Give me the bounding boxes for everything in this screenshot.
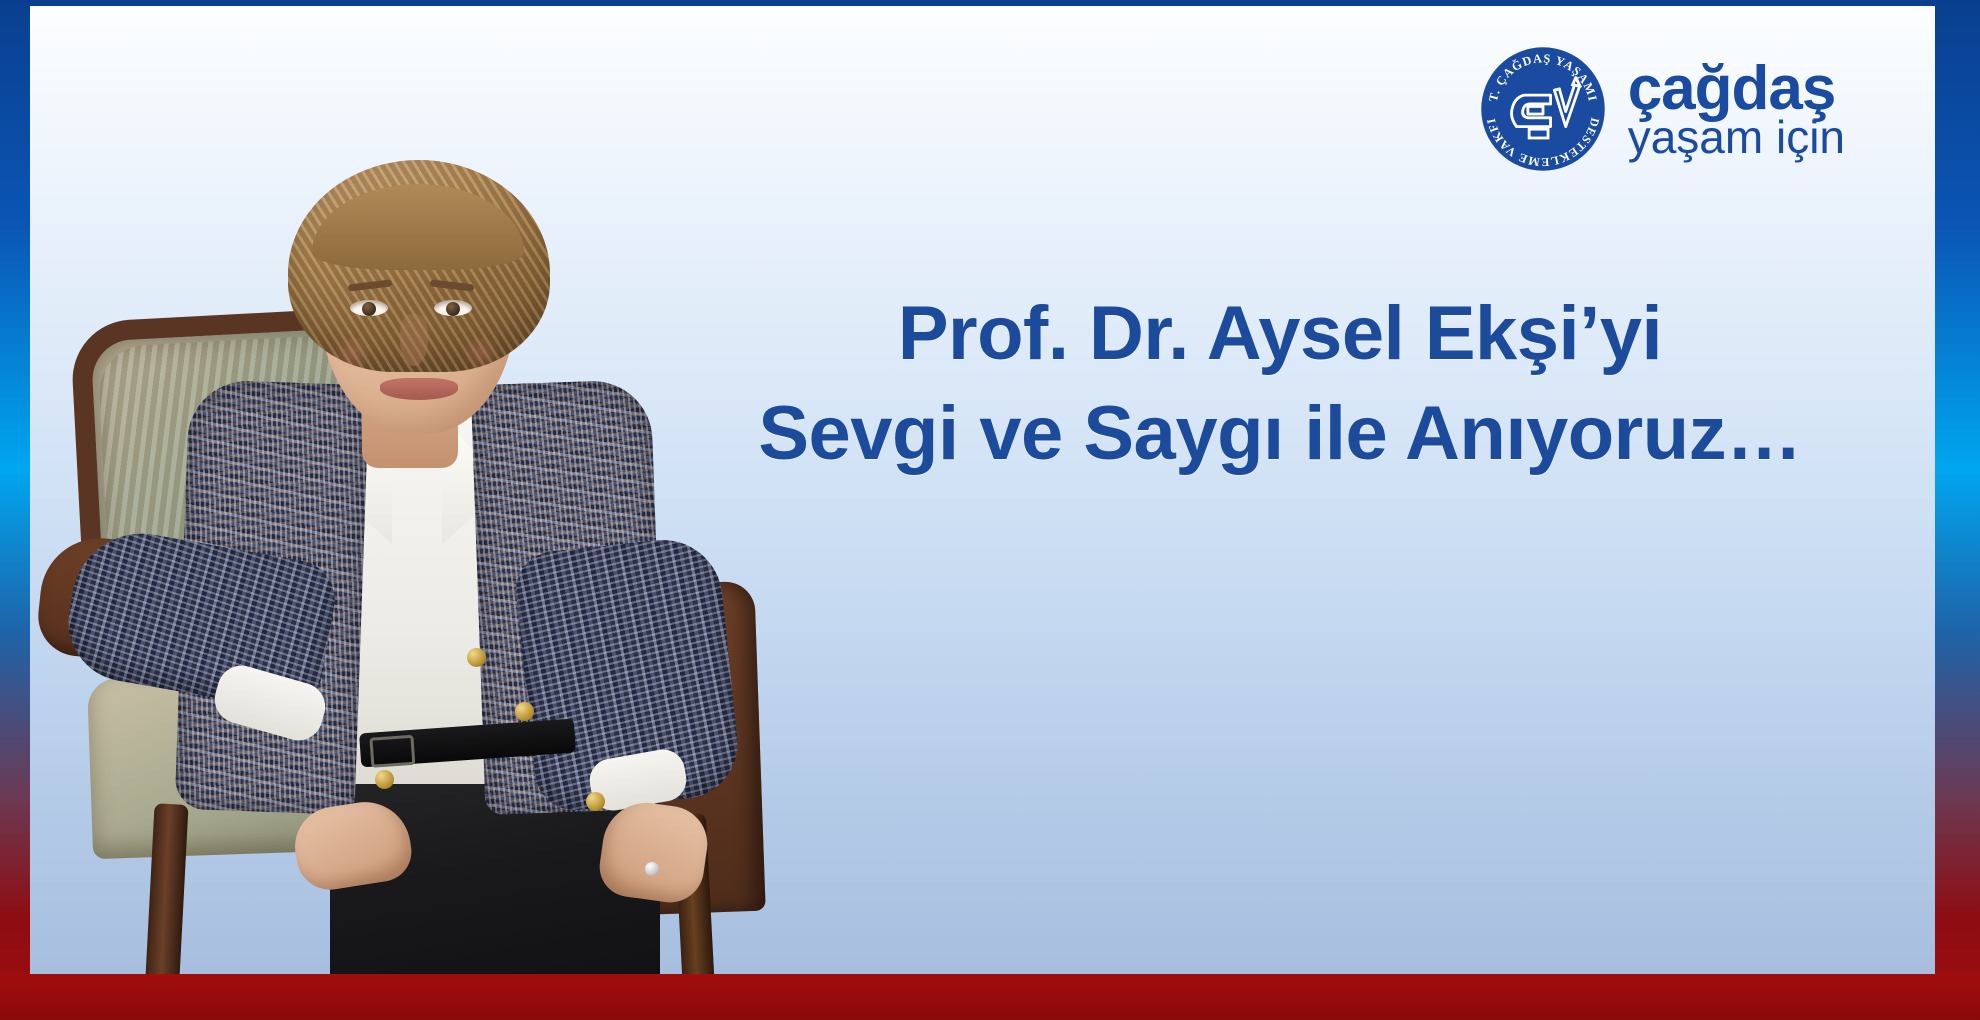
wordmark-line-1: çağdaş (1628, 59, 1845, 119)
eye-left (350, 300, 388, 316)
cheek-left (330, 338, 376, 368)
foundation-wordmark: çağdaş yaşam için (1628, 59, 1845, 159)
foundation-seal-icon: T. ÇAĞDAŞ YAŞAMI DESTEKLEME VAKFI (1480, 46, 1606, 172)
mouth (380, 378, 458, 400)
memorial-banner: T. ÇAĞDAŞ YAŞAMI DESTEKLEME VAKFI çağdaş… (0, 0, 1980, 1020)
cheek-right (458, 338, 504, 368)
headline-line-1: Prof. Dr. Aysel Ekşi’yi (690, 284, 1870, 384)
nose (400, 314, 428, 366)
foundation-logo[interactable]: T. ÇAĞDAŞ YAŞAMI DESTEKLEME VAKFI çağdaş… (1480, 46, 1845, 172)
jacket-button (586, 792, 605, 811)
bottom-accent-bar (0, 974, 1980, 1020)
finger-ring (645, 862, 659, 876)
banner-stage: T. ÇAĞDAŞ YAŞAMI DESTEKLEME VAKFI çağdaş… (30, 6, 1935, 974)
wordmark-line-2: yaşam için (1628, 115, 1845, 159)
memorial-headline: Prof. Dr. Aysel Ekşi’yi Sevgi ve Saygı i… (690, 284, 1870, 485)
jacket-button (467, 648, 486, 667)
jacket-button (515, 702, 534, 721)
eye-right (434, 300, 472, 316)
headline-line-2: Sevgi ve Saygı ile Anıyoruz… (690, 384, 1870, 484)
jacket-button (375, 770, 394, 789)
portrait-photo (30, 114, 770, 974)
